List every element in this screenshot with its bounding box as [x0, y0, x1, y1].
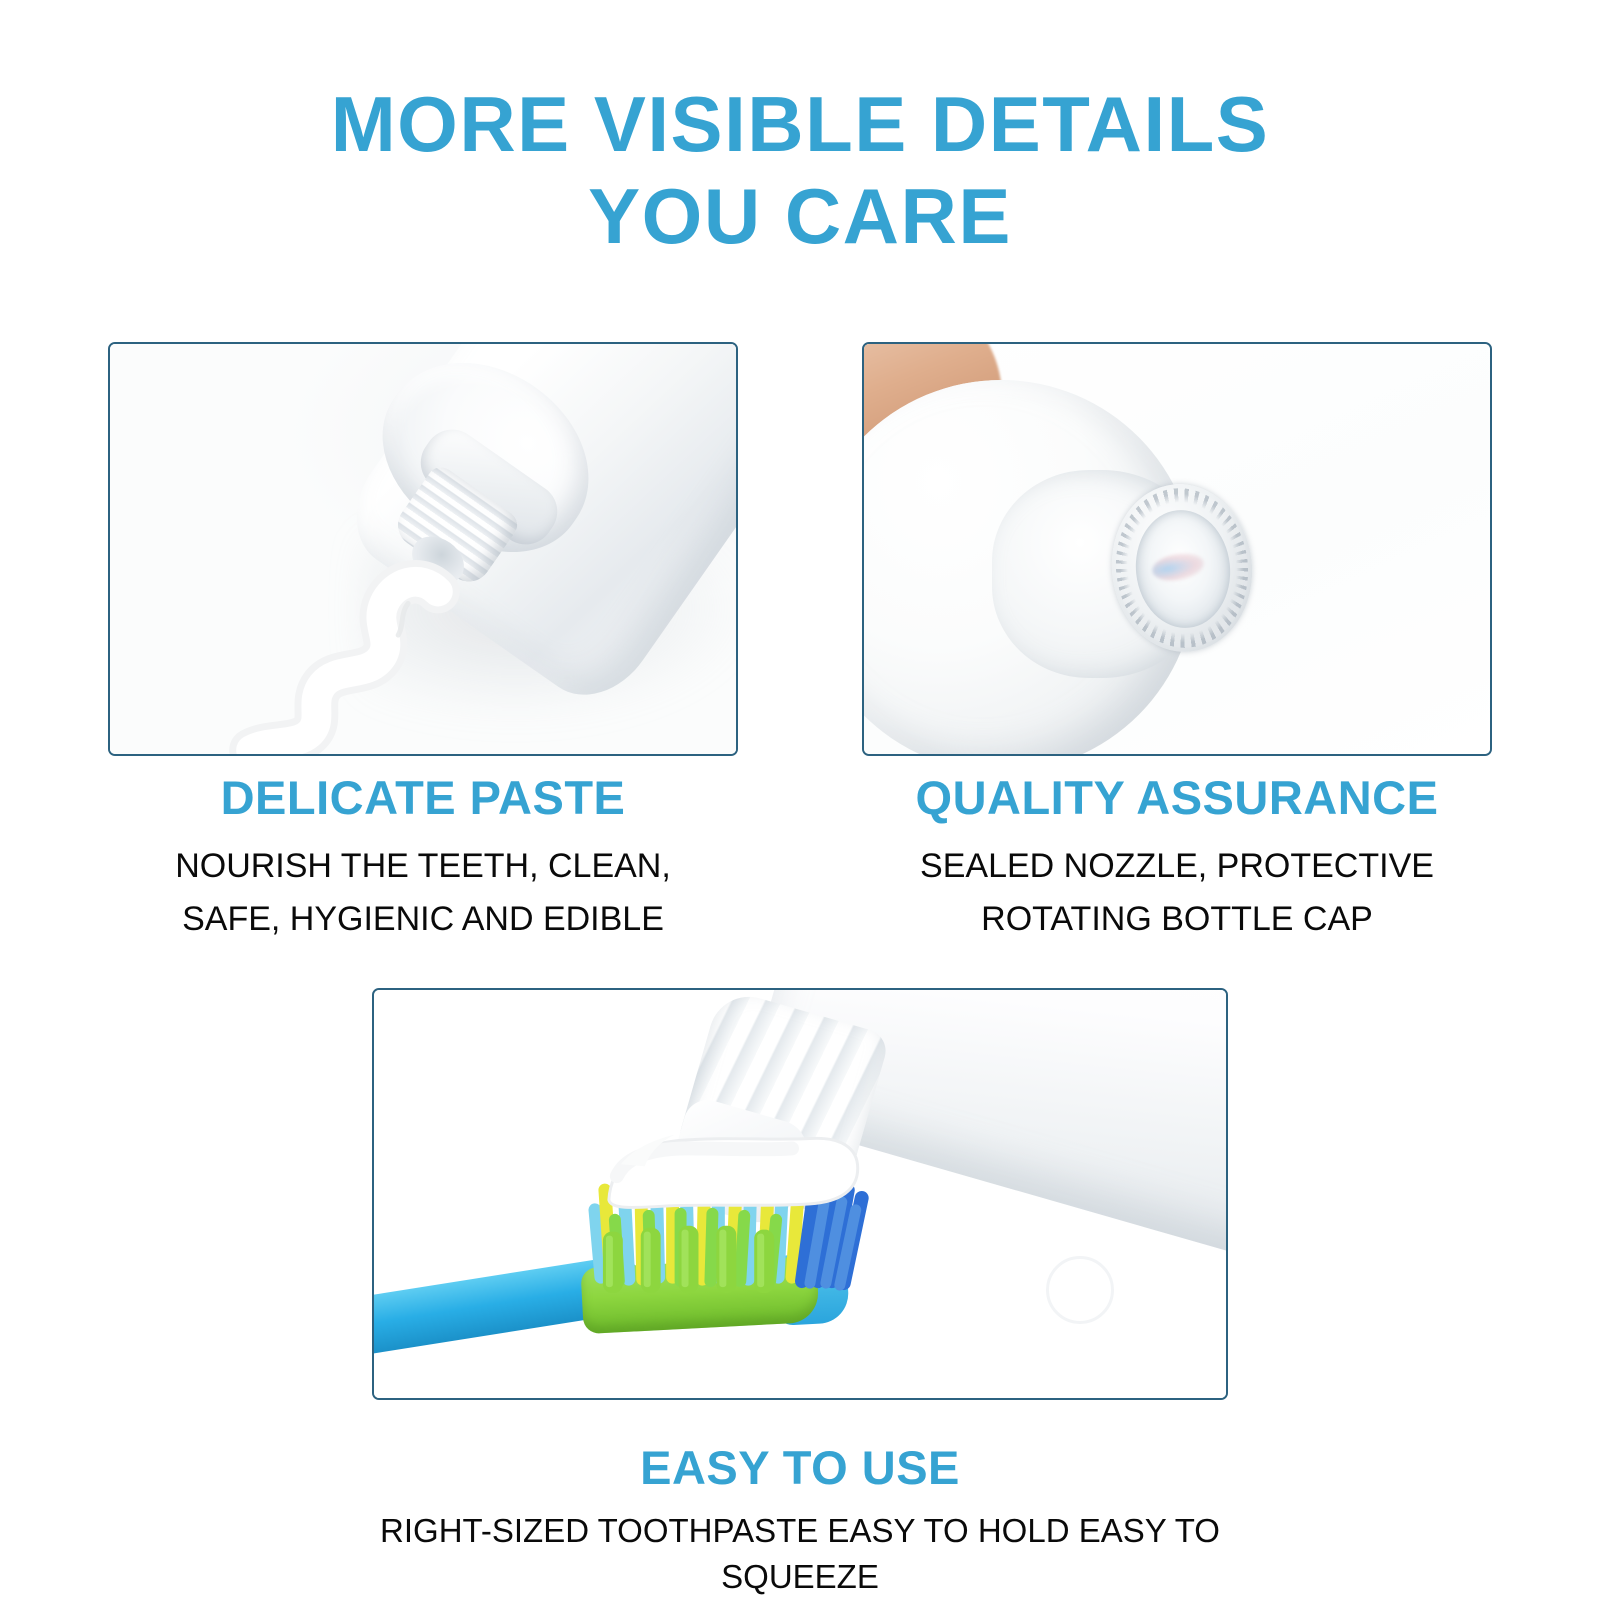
- caption-quality-assurance: QUALITY ASSURANCE SEALED NOZZLE, PROTECT…: [862, 770, 1492, 946]
- caption-heading-delicate-paste: DELICATE PASTE: [108, 770, 738, 826]
- title-line-2: YOU CARE: [0, 170, 1600, 262]
- caption-easy-to-use: EASY TO USE RIGHT-SIZED TOOTHPASTE EASY …: [300, 1440, 1300, 1600]
- caption-body-quality-assurance: SEALED NOZZLE, PROTECTIVE ROTATING BOTTL…: [862, 840, 1492, 946]
- caption-delicate-paste: DELICATE PASTE NOURISH THE TEETH, CLEAN,…: [108, 770, 738, 946]
- page-title: MORE VISIBLE DETAILS YOU CARE: [0, 78, 1600, 262]
- photo-frame-easy-to-use: [372, 988, 1228, 1400]
- caption-body-easy-to-use: RIGHT-SIZED TOOTHPASTE EASY TO HOLD EASY…: [300, 1508, 1300, 1600]
- caption-heading-easy-to-use: EASY TO USE: [300, 1440, 1300, 1496]
- title-line-1: MORE VISIBLE DETAILS: [0, 78, 1600, 170]
- photo-frame-quality-assurance: [862, 342, 1492, 756]
- photo-sealed-nozzle: [864, 344, 1490, 754]
- caption-body-delicate-paste: NOURISH THE TEETH, CLEAN, SAFE, HYGIENIC…: [108, 840, 738, 946]
- photo-frame-delicate-paste: [108, 342, 738, 756]
- photo-toothbrush-with-paste: [374, 990, 1226, 1398]
- faint-watermark: [1046, 1256, 1114, 1324]
- paste-ribbon: [110, 344, 736, 754]
- product-infographic-page: { "colors": { "accent_blue": "#36a3d2", …: [0, 0, 1600, 1600]
- photo-toothpaste-tube-ribbon: [110, 344, 736, 754]
- caption-heading-quality-assurance: QUALITY ASSURANCE: [862, 770, 1492, 826]
- toothpaste-blob: [374, 990, 1226, 1398]
